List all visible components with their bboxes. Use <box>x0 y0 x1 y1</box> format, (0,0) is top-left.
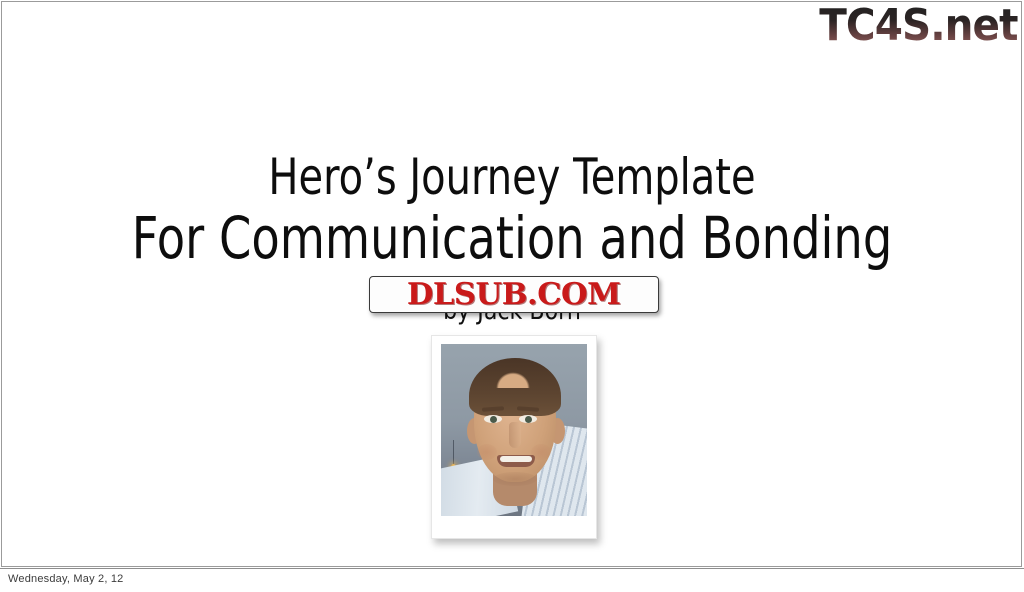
author-photo-frame <box>431 335 597 539</box>
footer-date: Wednesday, May 2, 12 <box>8 572 124 586</box>
slide-title-block: Hero’s Journey Template For Communicatio… <box>0 148 1024 270</box>
photo-pupil-right <box>525 416 532 423</box>
photo-eye-right <box>519 415 537 423</box>
photo-teeth <box>500 456 532 462</box>
dlsub-watermark-inner: DLSUB.COM <box>370 277 658 312</box>
dlsub-watermark: DLSUB.COM <box>369 276 659 313</box>
tc4s-watermark-text: TC4S.net <box>820 2 1018 50</box>
tradersxtreme-watermark: TradersXtreme.com <box>809 560 1024 592</box>
dlsub-watermark-text: DLSUB.COM <box>407 279 621 311</box>
photo-mouth <box>497 455 535 467</box>
photo-eye-left <box>484 415 502 423</box>
photo-forehead <box>496 372 530 388</box>
slide-title-line-2: For Communication and Bonding <box>102 206 921 270</box>
author-photo <box>441 344 587 516</box>
slide-title-line-1: Hero’s Journey Template <box>102 148 921 206</box>
photo-cheek-left <box>477 444 497 460</box>
photo-nose <box>509 422 521 448</box>
photo-pupil-left <box>490 416 497 423</box>
photo-chin <box>493 472 537 486</box>
tc4s-watermark: TC4S.net <box>784 0 1024 60</box>
presentation-slide: TC4S.net Hero’s Journey Template For Com… <box>0 0 1024 592</box>
